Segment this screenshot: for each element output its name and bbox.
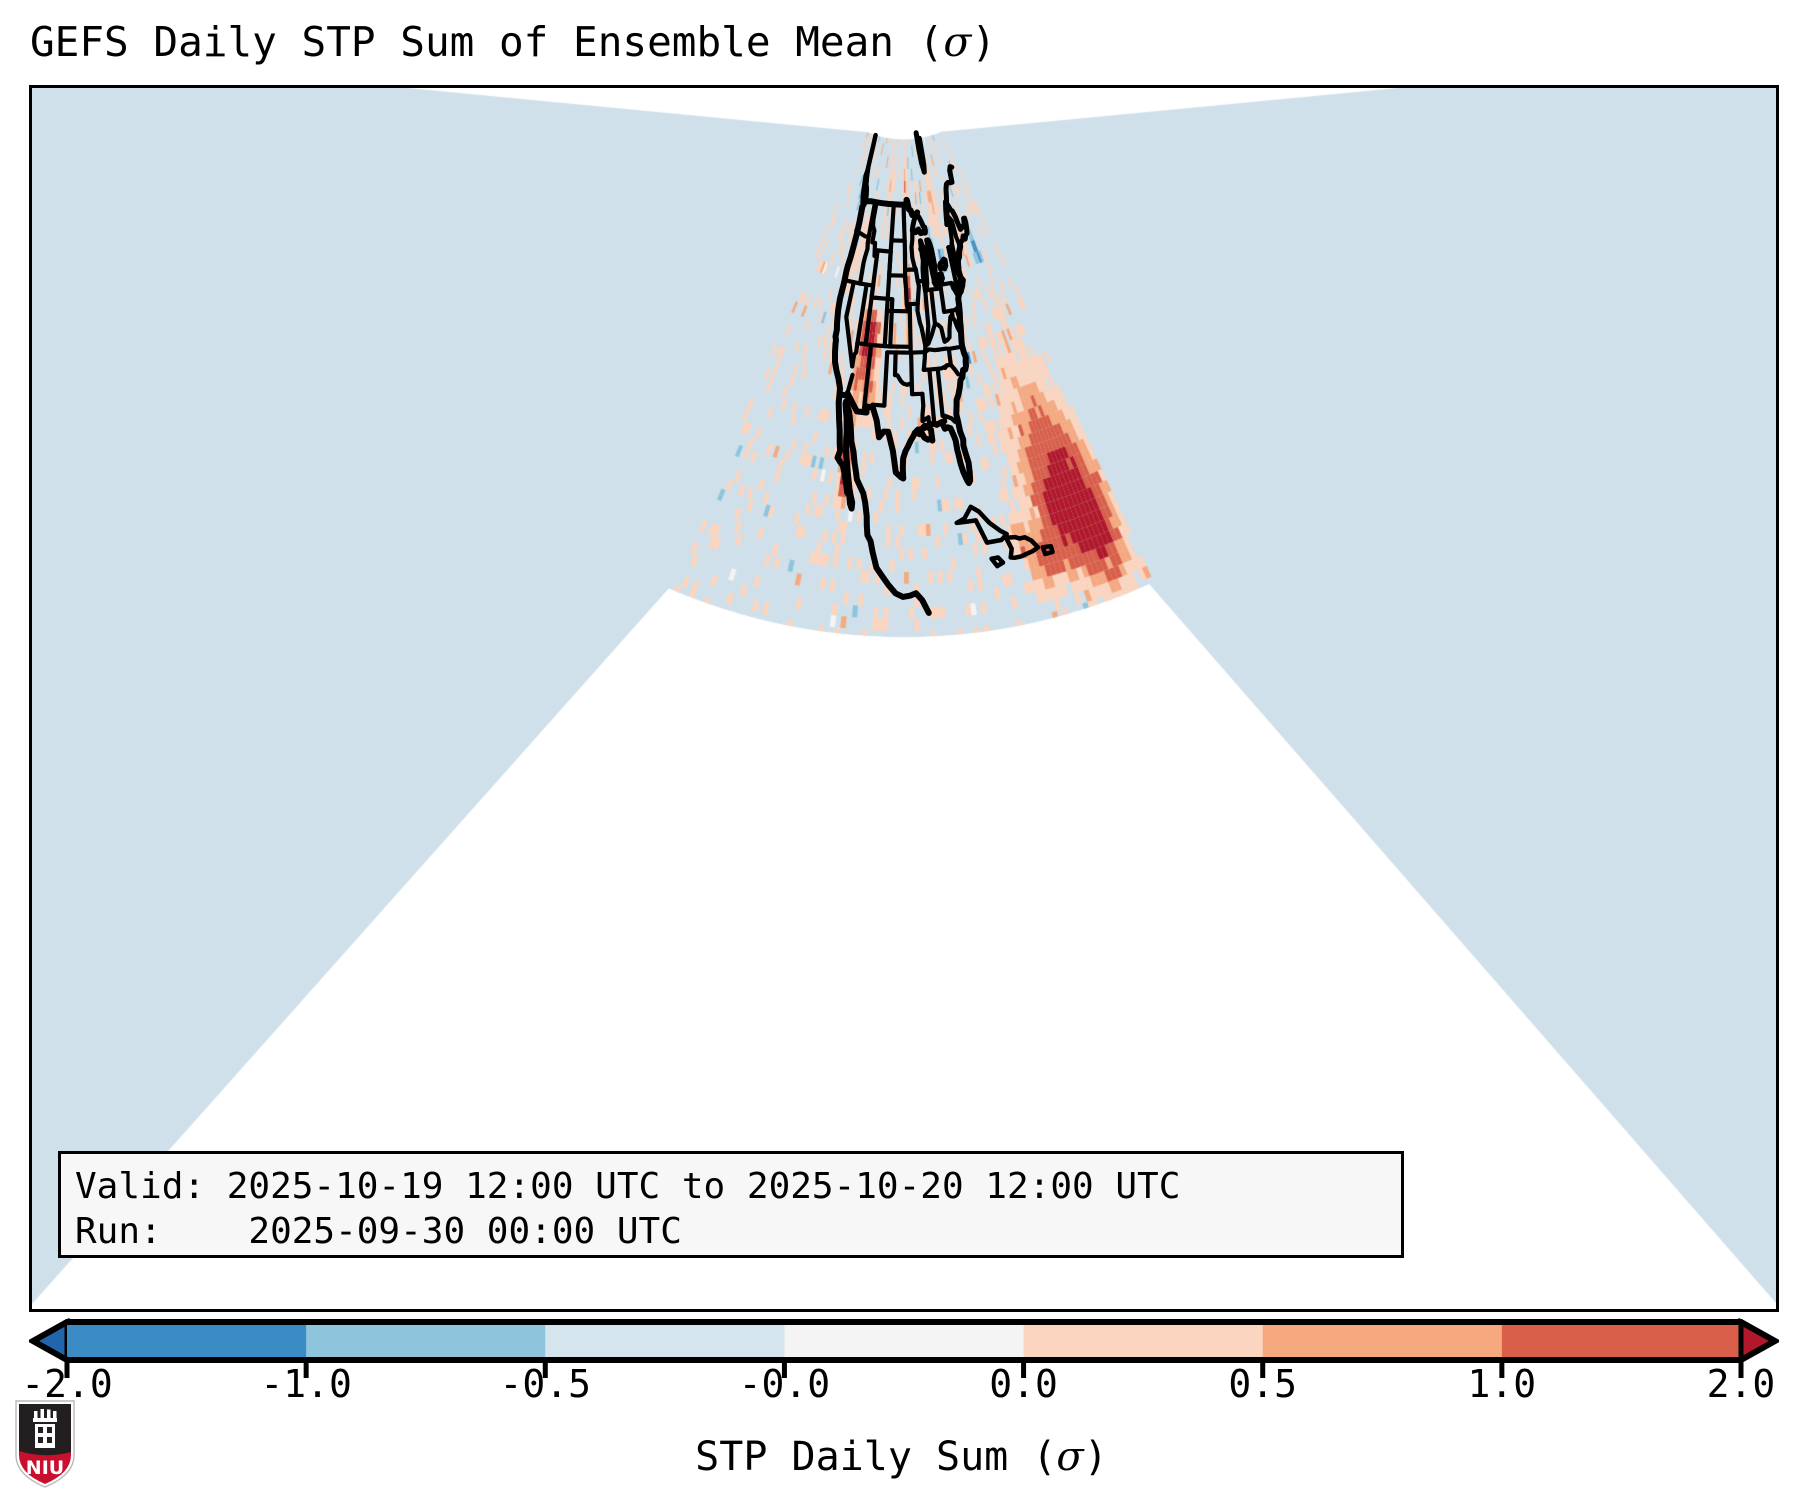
co-wy-ne (876, 298, 892, 299)
valid-run-info-box: Valid: 2025-10-19 12:00 UTC to 2025-10-2… (58, 1151, 1404, 1258)
ne-ks (887, 311, 908, 312)
cbar-label-before: STP Daily Sum ( (695, 1434, 1056, 1480)
mo-il (918, 304, 926, 352)
ri-ct (959, 281, 961, 288)
map-geography-overlay (32, 88, 1776, 1309)
niu-wordmark: NIU (26, 1457, 64, 1479)
co-ks (890, 299, 892, 346)
lake-michigan (920, 241, 926, 292)
title-text-after: ) (971, 18, 996, 66)
la-ms (922, 394, 929, 427)
mn-wi (912, 231, 916, 270)
il-in (925, 290, 928, 340)
colorbar-band-6 (1502, 1322, 1742, 1360)
jamaica (992, 558, 1003, 567)
colorbar-tick-label-2: -0.5 (500, 1362, 592, 1406)
run-time-line: Run: 2025-09-30 00:00 UTC (75, 1209, 1401, 1254)
ar-tn-mo (924, 352, 925, 370)
co-nm-ok (871, 345, 890, 347)
az-nm (864, 345, 871, 412)
co-ks-ne (885, 299, 888, 346)
coastlines-and-borders (835, 133, 1053, 613)
va-nc-coast (961, 341, 962, 346)
title-text-before: GEFS Daily STP Sum of Ensemble Mean ( (30, 18, 943, 66)
colorbar-axis-label: STP Daily Sum (σ) (0, 1434, 1803, 1480)
mt-id (872, 202, 877, 256)
us-canada-border-lakes (907, 200, 918, 216)
mt-nd (891, 204, 894, 251)
lake-ontario (940, 259, 946, 269)
colorbar-tick-label-7: 2.0 (1707, 1362, 1776, 1406)
ar-ok-la (911, 353, 912, 395)
nd-mn (904, 205, 905, 241)
az-ca-south (847, 375, 853, 396)
colorbar-band-3 (784, 1322, 1024, 1360)
james-bay (916, 133, 924, 173)
cuba (957, 507, 1007, 543)
colorbar-bands (33, 1322, 1775, 1360)
hispaniola (1006, 537, 1038, 558)
ga-fl-east (955, 418, 957, 422)
colorbar-band-0 (67, 1322, 307, 1360)
niu-logo[interactable]: NIU (12, 1398, 78, 1490)
ms-al (929, 370, 934, 424)
bc-coast (867, 135, 876, 181)
sigma-symbol-colorbar: σ (1056, 1434, 1083, 1480)
colorbar-band-1 (306, 1322, 546, 1360)
pa-ny (942, 283, 955, 290)
colorbar-band-5 (1263, 1322, 1503, 1360)
colorbar-tick-label-3: -0.0 (739, 1362, 831, 1406)
colorbar-band-2 (545, 1322, 785, 1360)
nm-tx (884, 352, 887, 405)
colorbar-tick-labels: -2.0-1.0-0.5-0.00.00.51.02.0 (29, 1362, 1779, 1412)
nv-az (852, 343, 857, 366)
map-plot-area[interactable] (29, 85, 1779, 1312)
ar-mo (911, 352, 925, 353)
il-wi (918, 281, 924, 282)
colorbar-band-4 (1024, 1322, 1264, 1360)
in-oh (931, 290, 935, 324)
colorbar[interactable]: -2.0-1.0-0.5-0.00.00.51.02.0 (29, 1318, 1779, 1384)
us-canada-border (866, 200, 907, 205)
page-title: GEFS Daily STP Sum of Ensemble Mean (σ) (30, 18, 996, 66)
sigma-symbol-title: σ (943, 18, 971, 66)
colorbar-tick-label-6: 1.0 (1468, 1362, 1537, 1406)
va-wv (945, 315, 953, 341)
colorbar-tick-label-4: 0.0 (989, 1362, 1058, 1406)
coastline-west (835, 207, 862, 509)
puerto-rico (1043, 546, 1053, 554)
ia-il (918, 281, 919, 304)
cbar-label-after: ) (1084, 1434, 1108, 1480)
sd-wy (889, 252, 891, 276)
colorbar-tick-label-1: -1.0 (260, 1362, 352, 1406)
colorbar-tick-label-5: 0.5 (1228, 1362, 1297, 1406)
valid-time-line: Valid: 2025-10-19 12:00 UTC to 2025-10-2… (75, 1164, 1401, 1209)
or-id (860, 243, 868, 284)
